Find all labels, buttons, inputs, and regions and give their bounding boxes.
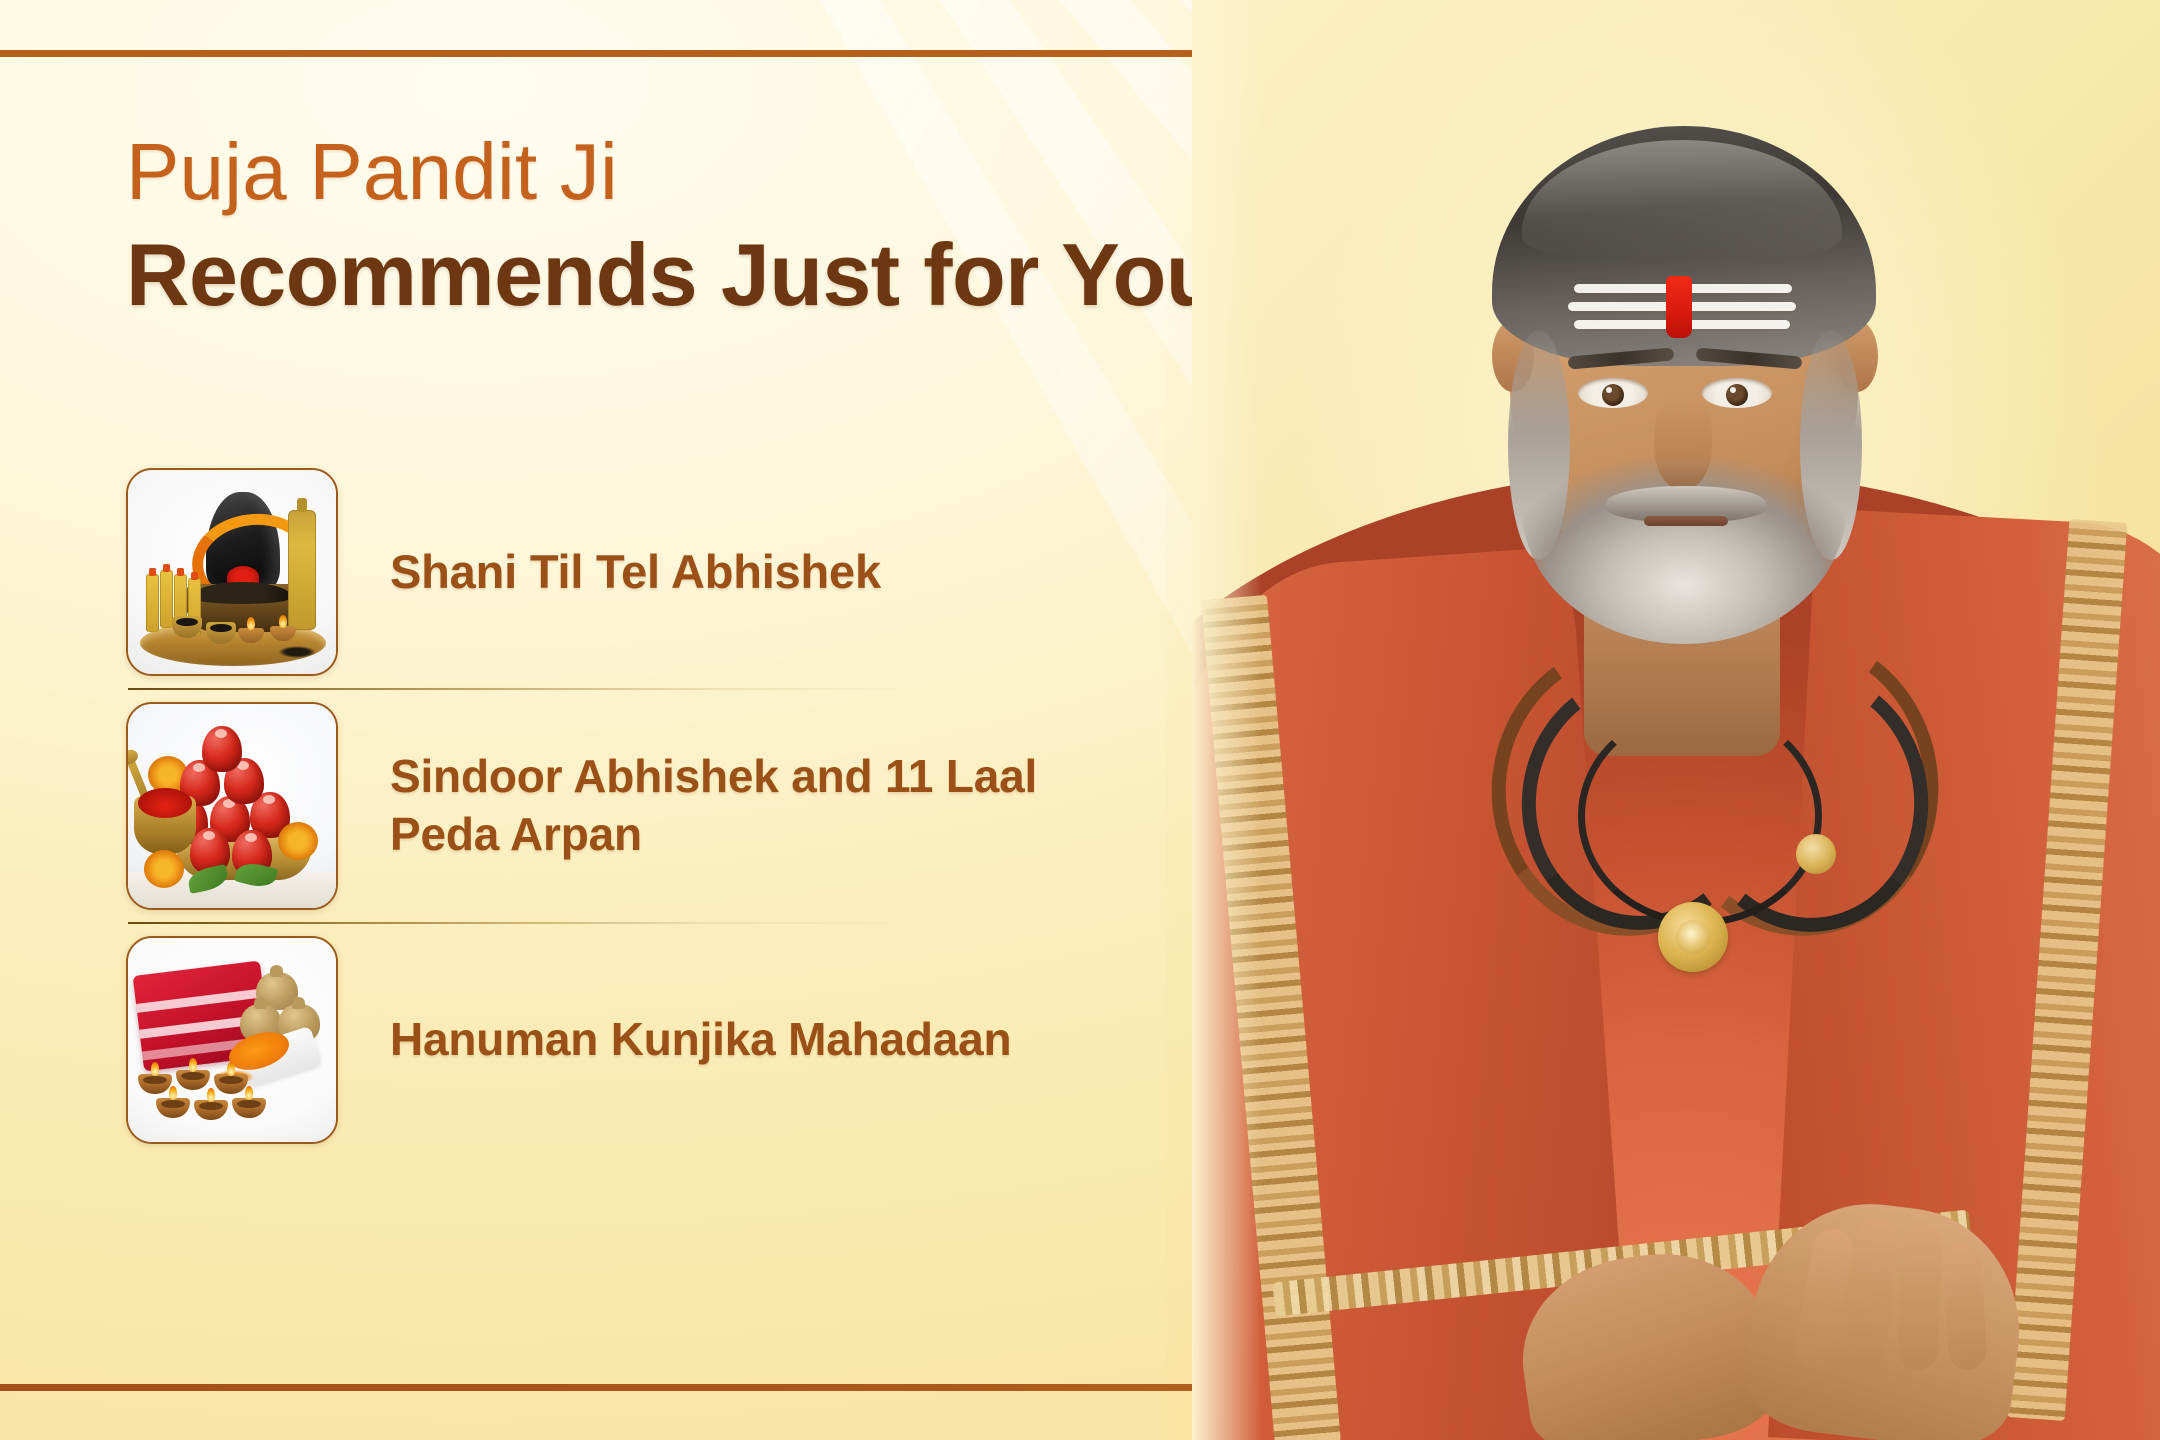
oil-vial-icon bbox=[146, 574, 159, 632]
thin-bead-necklace-icon bbox=[1578, 706, 1822, 926]
recommendation-list: Shani Til Tel Abhishek bbox=[126, 466, 1136, 1146]
red-tilak-icon bbox=[1666, 276, 1692, 338]
recommendation-label-1: Shani Til Tel Abhishek bbox=[390, 542, 881, 601]
mouth bbox=[1644, 516, 1728, 526]
recommendation-label-3: Hanuman Kunjika Mahadaan bbox=[390, 1011, 1011, 1069]
shani-til-tel-abhishek-thumbnail[interactable] bbox=[126, 468, 338, 676]
hanuman-kunjika-mahadaan-thumbnail[interactable] bbox=[126, 936, 338, 1144]
finger bbox=[1897, 1223, 1942, 1370]
iris-right bbox=[1726, 384, 1748, 406]
marigold-flower-icon bbox=[144, 850, 184, 888]
sesame-oil-bottle-icon bbox=[288, 510, 316, 630]
portrait-left-fade bbox=[1192, 0, 1262, 1440]
finger bbox=[1943, 1243, 1988, 1371]
recommendation-item-1[interactable]: Shani Til Tel Abhishek bbox=[126, 466, 1136, 678]
marigold-flower-icon bbox=[278, 822, 318, 860]
sindoor-powder-icon bbox=[138, 788, 192, 818]
laal-peda-icon bbox=[202, 726, 242, 772]
small-gold-pendant-icon bbox=[1796, 834, 1836, 874]
sindoor-abhishek-laal-peda-thumbnail[interactable] bbox=[126, 702, 338, 910]
recommendation-label-2: Sindoor Abhishek and 11 Laal Peda Arpan bbox=[390, 748, 1136, 864]
eye-right bbox=[1702, 378, 1772, 408]
bottom-rule bbox=[0, 1384, 1198, 1391]
recommendation-item-2[interactable]: Sindoor Abhishek and 11 Laal Peda Arpan bbox=[126, 700, 1136, 912]
thumbnail-3-scene bbox=[128, 938, 336, 1142]
thumbnail-1-scene bbox=[128, 470, 336, 674]
banner-stage: Puja Pandit Ji Recommends Just for You bbox=[0, 0, 2160, 1440]
iris-left bbox=[1602, 384, 1624, 406]
recommendation-item-3[interactable]: Hanuman Kunjika Mahadaan bbox=[126, 934, 1136, 1146]
eye-left bbox=[1578, 378, 1648, 408]
list-divider-2 bbox=[128, 922, 918, 924]
list-divider-1 bbox=[128, 688, 918, 690]
gold-pendant-icon bbox=[1658, 902, 1728, 972]
puja-pandit-portrait bbox=[1192, 0, 2160, 1440]
thumbnail-2-scene bbox=[128, 704, 336, 908]
nose bbox=[1654, 398, 1712, 490]
sesame-spill-icon bbox=[278, 646, 316, 658]
